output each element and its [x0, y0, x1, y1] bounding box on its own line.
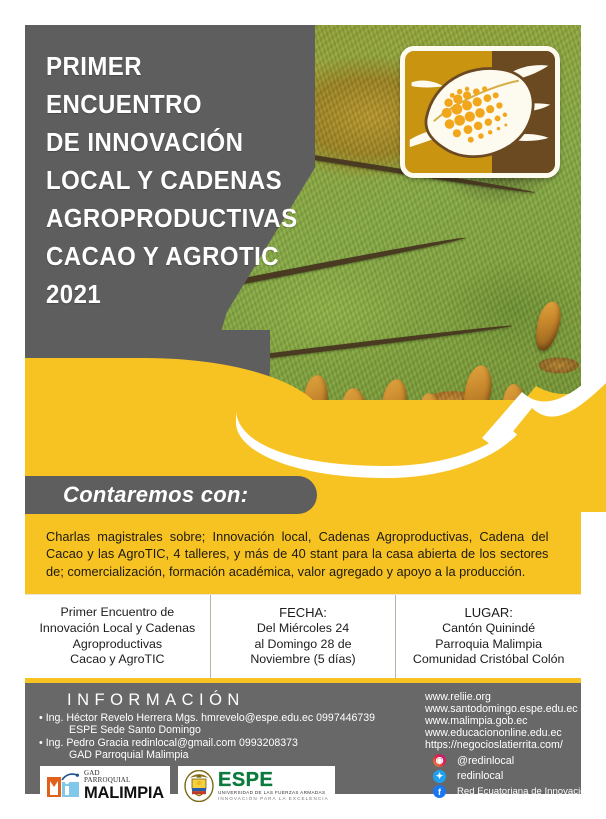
contact-item: Ing. Pedro Gracia redinlocal@gmail.com 0…: [39, 737, 399, 749]
social-item-facebook[interactable]: f Red Ecuatoriana de Innovación Local: [425, 785, 606, 798]
gad-malimpia-mark-icon: [46, 771, 80, 801]
title-line-7: 2021: [46, 276, 281, 314]
espe-subtitle-1: UNIVERSIDAD DE LAS FUERZAS ARMADAS: [218, 790, 329, 796]
title-line-3: DE INNOVACIÓN: [46, 124, 281, 162]
twitter-icon: ✦: [433, 770, 446, 783]
url-item[interactable]: www.reliie.org: [425, 691, 606, 703]
event-line-1: Primer Encuentro de: [61, 605, 175, 621]
gad-malimpia-logo: GAD PARROQUIAL MALIMPIA: [40, 766, 170, 806]
espe-text-block: ESPE UNIVERSIDAD DE LAS FUERZAS ARMADAS …: [218, 771, 329, 802]
social-item-instagram[interactable]: ◉ @redinlocal: [425, 754, 606, 767]
event-line-4: Cacao y AgroTIC: [70, 652, 164, 668]
sponsor-logo-strip: GAD PARROQUIAL MALIMPIA ESPE UNIVERSIDAD…: [40, 766, 335, 806]
informacion-heading: INFORMACIÓN: [39, 689, 399, 711]
gad-line-2: PARROQUIAL: [84, 777, 164, 784]
contact-item: Ing. Héctor Revelo Herrera Mgs. hmrevelo…: [39, 712, 399, 724]
place-line-1: Cantón Quinindé: [442, 621, 535, 637]
facebook-icon: f: [433, 785, 446, 798]
info-band: Primer Encuentro de Innovación Local y C…: [25, 594, 581, 678]
links-section: www.reliie.org www.santodomingo.espe.edu…: [425, 691, 606, 801]
instagram-icon: ◉: [433, 754, 446, 767]
title-line-4: LOCAL Y CADENAS: [46, 162, 281, 200]
date-line-1: Del Miércoles 24: [257, 621, 349, 637]
espe-logo: ESPE UNIVERSIDAD DE LAS FUERZAS ARMADAS …: [178, 766, 335, 806]
info-column-event: Primer Encuentro de Innovación Local y C…: [25, 595, 210, 678]
title-line-1: PRIMER: [46, 48, 281, 86]
ecuador-coat-of-arms-icon: [184, 770, 214, 802]
contact-item-sub: GAD Parroquial Malimpia: [39, 749, 399, 761]
place-header: LUGAR:: [464, 605, 512, 621]
ribbon-label: Contaremos con:: [25, 482, 248, 508]
social-list: ◉ @redinlocal ✦ redinlocal f Red Ecuator…: [425, 754, 606, 798]
twitter-handle: redinlocal: [457, 770, 503, 782]
date-line-3: Noviembre (5 días): [250, 652, 355, 668]
url-list: www.reliie.org www.santodomingo.espe.edu…: [425, 691, 606, 751]
title-line-6: CACAO Y AGROTIC: [46, 238, 281, 276]
contact-section: INFORMACIÓN Ing. Héctor Revelo Herrera M…: [39, 689, 399, 762]
date-header: FECHA:: [279, 605, 327, 621]
info-column-place: LUGAR: Cantón Quinindé Parroquia Malimpi…: [395, 595, 581, 678]
url-item[interactable]: https://negocioslatierrita.com/: [425, 739, 606, 751]
event-line-2: Innovación Local y Cadenas: [39, 621, 195, 637]
espe-subtitle-2: INNOVACIÓN PARA LA EXCELENCIA: [218, 796, 329, 802]
contact-list: Ing. Héctor Revelo Herrera Mgs. hmrevelo…: [39, 712, 399, 762]
poster-root: PRIMER ENCUENTRO DE INNOVACIÓN LOCAL Y C…: [0, 0, 606, 819]
instagram-handle: @redinlocal: [457, 755, 514, 767]
title-line-5: AGROPRODUCTIVAS: [46, 200, 281, 238]
gad-name: MALIMPIA: [84, 785, 164, 802]
title-line-2: ENCUENTRO: [46, 86, 281, 124]
cacao-pod-icon: [405, 51, 555, 173]
gad-text-block: GAD PARROQUIAL MALIMPIA: [84, 770, 164, 802]
place-line-2: Parroquia Malimpia: [435, 637, 542, 653]
intro-paragraph: Charlas magistrales sobre; Innovación lo…: [46, 528, 548, 580]
cacao-pod-logo: [400, 46, 560, 178]
espe-name: ESPE: [218, 771, 329, 790]
social-item-twitter[interactable]: ✦ redinlocal: [425, 770, 606, 783]
contact-item-sub: ESPE Sede Santo Domingo: [39, 724, 399, 736]
date-line-2: al Domingo 28 de: [254, 637, 351, 653]
place-line-3: Comunidad Cristóbal Colón: [413, 652, 565, 668]
facebook-page-name: Red Ecuatoriana de Innovación Local: [457, 786, 606, 797]
url-item[interactable]: www.educaciononline.edu.ec: [425, 727, 606, 739]
event-line-3: Agroproductivas: [73, 637, 163, 653]
url-item[interactable]: www.santodomingo.espe.edu.ec: [425, 703, 606, 715]
contaremos-ribbon: Contaremos con:: [25, 476, 317, 514]
page-title: PRIMER ENCUENTRO DE INNOVACIÓN LOCAL Y C…: [46, 48, 296, 314]
info-column-date: FECHA: Del Miércoles 24 al Domingo 28 de…: [210, 595, 396, 678]
url-item[interactable]: www.malimpia.gob.ec: [425, 715, 606, 727]
